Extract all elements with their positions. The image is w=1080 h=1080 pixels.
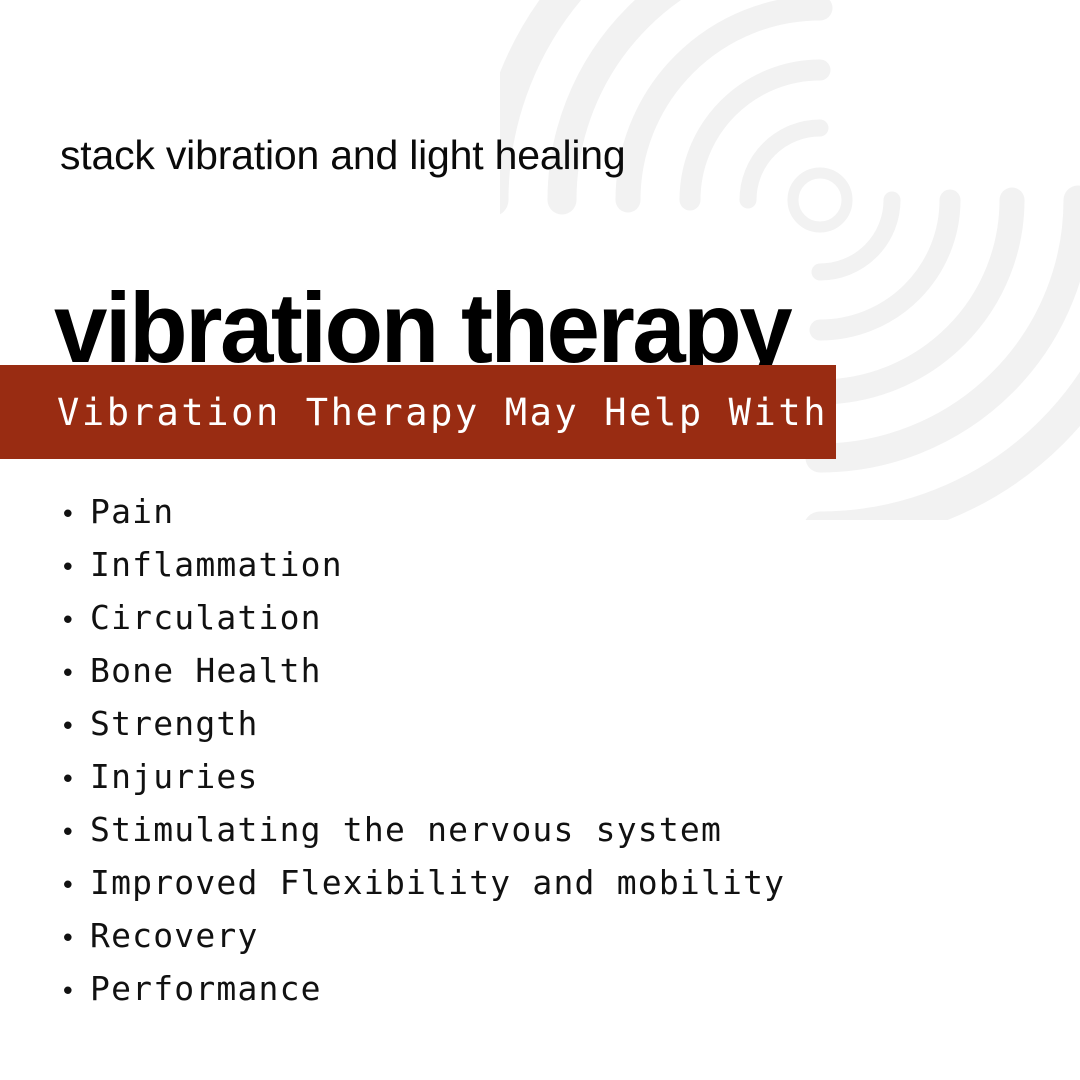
list-item-label: Pain: [90, 492, 174, 531]
bullet-icon: •: [60, 873, 90, 899]
poster-canvas: stack vibration and light healing vibrat…: [0, 0, 1080, 1080]
bullet-icon: •: [60, 767, 90, 793]
list-item: • Recovery: [60, 916, 1020, 969]
ripple-center-ring-icon: [793, 173, 847, 227]
list-item-label: Recovery: [90, 916, 259, 955]
list-item: • Strength: [60, 704, 1020, 757]
benefits-list: • Pain • Inflammation • Circulation • Bo…: [60, 492, 1020, 1022]
list-item-label: Strength: [90, 704, 259, 743]
list-item-label: Injuries: [90, 757, 259, 796]
list-item-label: Improved Flexibility and mobility: [90, 863, 785, 902]
list-item-label: Stimulating the nervous system: [90, 810, 722, 849]
bullet-icon: •: [60, 820, 90, 846]
bullet-icon: •: [60, 502, 90, 528]
section-banner-label: Vibration Therapy May Help With:: [0, 391, 853, 434]
list-item: • Inflammation: [60, 545, 1020, 598]
list-item: • Stimulating the nervous system: [60, 810, 1020, 863]
list-item: • Performance: [60, 969, 1020, 1022]
list-item-label: Circulation: [90, 598, 322, 637]
list-item-label: Inflammation: [90, 545, 343, 584]
bullet-icon: •: [60, 926, 90, 952]
bullet-icon: •: [60, 555, 90, 581]
section-banner: Vibration Therapy May Help With:: [0, 365, 836, 459]
bullet-icon: •: [60, 979, 90, 1005]
list-item-label: Performance: [90, 969, 322, 1008]
list-item: • Circulation: [60, 598, 1020, 651]
page-title: vibration therapy: [54, 278, 790, 377]
list-item: • Improved Flexibility and mobility: [60, 863, 1020, 916]
bullet-icon: •: [60, 608, 90, 634]
list-item: • Pain: [60, 492, 1020, 545]
list-item-label: Bone Health: [90, 651, 322, 690]
bullet-icon: •: [60, 661, 90, 687]
bullet-icon: •: [60, 714, 90, 740]
list-item: • Injuries: [60, 757, 1020, 810]
list-item: • Bone Health: [60, 651, 1020, 704]
eyebrow-text: stack vibration and light healing: [60, 131, 625, 180]
